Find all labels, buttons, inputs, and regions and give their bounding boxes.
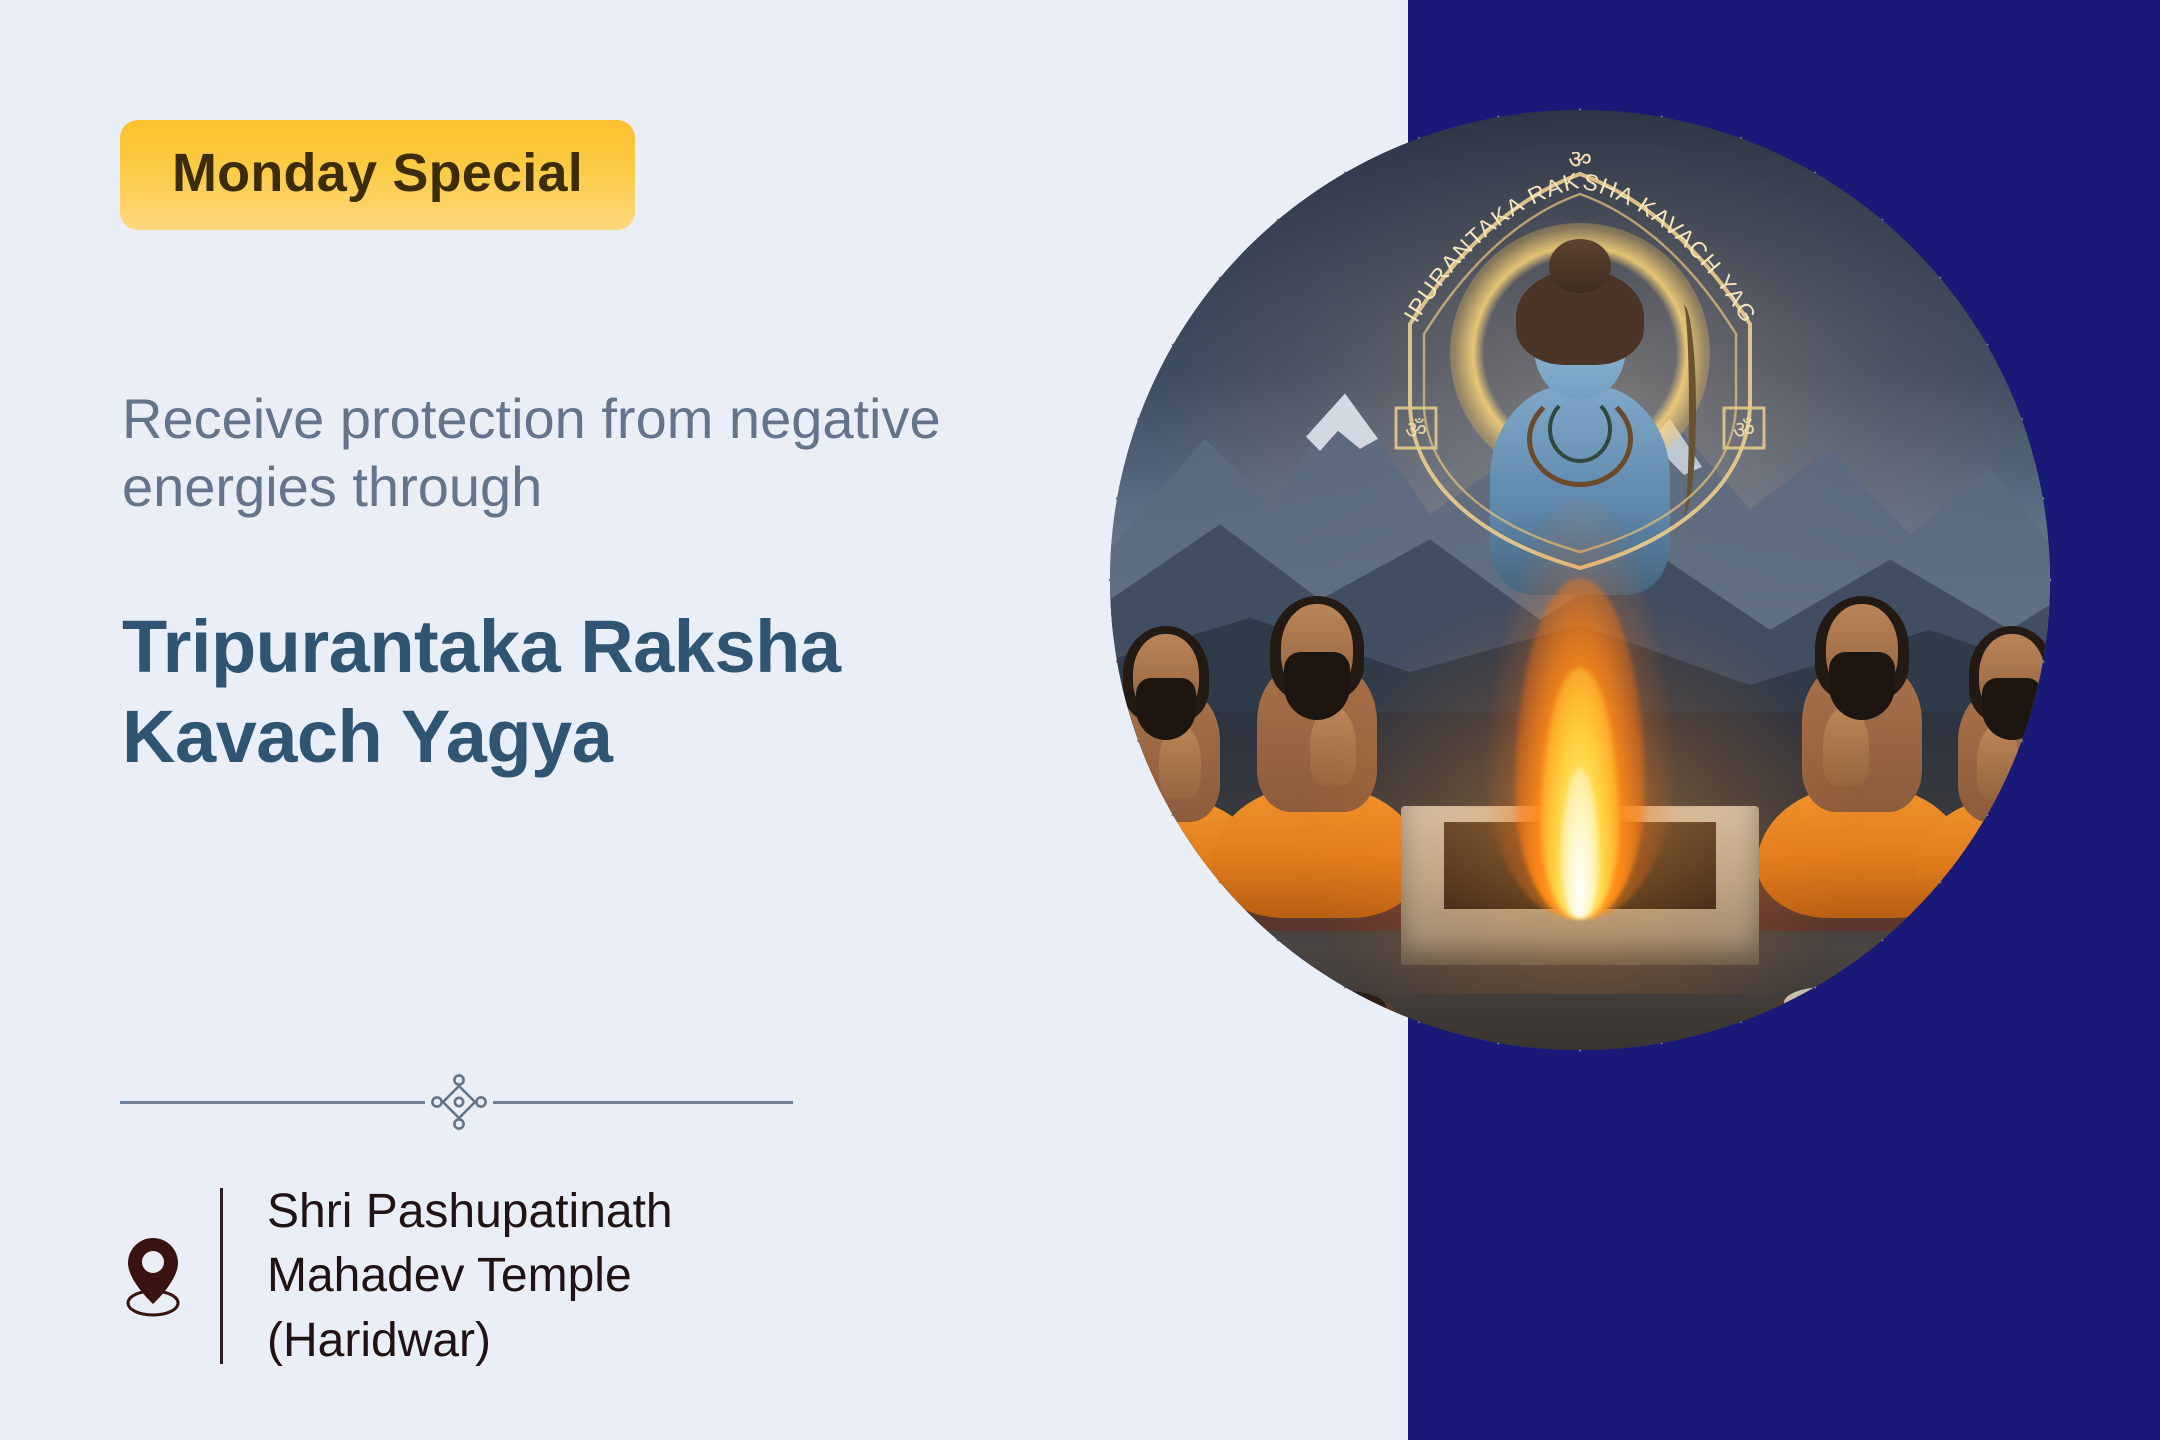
location-pin-icon xyxy=(120,1234,186,1318)
location-name: Shri Pashupatinath Mahadev Temple (Harid… xyxy=(267,1180,827,1373)
monday-special-badge: Monday Special xyxy=(120,120,635,230)
yagna-photograph: ॐ TRIPURANTAKA RAKSHA KAVACH YAGYA ॐ ॐ xyxy=(1110,110,2050,1050)
subheading-text: Receive protection from negative energie… xyxy=(122,385,982,522)
offering-bowls xyxy=(1110,843,2050,1050)
shield-inscription: TRIPURANTAKA RAKSHA KAVACH YAGYA xyxy=(1370,152,1762,328)
location-block: Shri Pashupatinath Mahadev Temple (Harid… xyxy=(120,1180,827,1373)
divider-rule-left xyxy=(120,1101,425,1104)
svg-text:TRIPURANTAKA RAKSHA KAVACH YAG: TRIPURANTAKA RAKSHA KAVACH YAGYA xyxy=(1370,152,1762,328)
mandala-artwork: ॐ TRIPURANTAKA RAKSHA KAVACH YAGYA ॐ ॐ xyxy=(1030,30,2130,1410)
svg-text:ॐ: ॐ xyxy=(1733,417,1755,444)
decorative-divider xyxy=(120,1072,865,1132)
content-column: Monday Special Receive protection from n… xyxy=(120,0,960,1440)
svg-text:ॐ: ॐ xyxy=(1405,417,1427,444)
divider-rule-right xyxy=(493,1101,793,1104)
diamond-ornament-icon xyxy=(425,1072,493,1132)
headline-text: Tripurantaka Raksha Kavach Yagya xyxy=(122,602,882,783)
promotional-banner: ॐ TRIPURANTAKA RAKSHA KAVACH YAGYA ॐ ॐ xyxy=(0,0,2160,1440)
night-mountain-scene: ॐ TRIPURANTAKA RAKSHA KAVACH YAGYA ॐ ॐ xyxy=(1110,110,2050,1050)
location-divider-bar xyxy=(220,1188,223,1364)
